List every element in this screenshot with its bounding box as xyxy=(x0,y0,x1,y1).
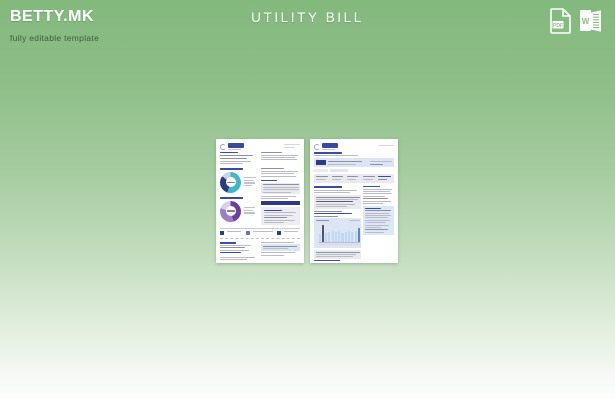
doc2-header-meta xyxy=(378,145,394,147)
utility-bill-page-2[interactable] xyxy=(310,139,398,263)
doc1-main-row xyxy=(220,168,300,225)
page-title: UTILITY BILL xyxy=(0,10,615,25)
doc2-right-column xyxy=(363,186,394,263)
donut-cost-breakdown xyxy=(220,201,241,222)
doc2-header xyxy=(314,143,394,150)
phone-icon xyxy=(246,231,250,235)
document-preview-group xyxy=(216,139,398,263)
doc1-header xyxy=(220,143,300,150)
word-file-icon[interactable]: W xyxy=(579,8,603,39)
doc1-header-meta xyxy=(284,144,300,149)
company-logo-wordmark xyxy=(228,143,244,150)
web-icon xyxy=(277,231,281,235)
doc1-charts-column xyxy=(220,168,259,225)
doc2-tabs xyxy=(314,169,394,172)
info-icon xyxy=(220,231,224,235)
total-amount-due-bar xyxy=(261,201,300,205)
utility-bill-page-1[interactable] xyxy=(216,139,304,263)
format-badges: PDF W xyxy=(550,8,603,39)
slip-left xyxy=(220,242,259,262)
meter-readings-table xyxy=(314,174,394,183)
monthly-usage-bar-chart xyxy=(314,218,361,248)
doc1-top-row xyxy=(220,152,300,165)
chart2-section-title xyxy=(220,197,243,199)
doc1-summary-column xyxy=(261,168,300,225)
donut-energy-mix xyxy=(220,172,241,193)
charges-section-title xyxy=(314,186,342,188)
doc2-main-row xyxy=(314,186,394,263)
brand-tagline: fully editable template xyxy=(10,33,99,43)
pdf-file-icon[interactable]: PDF xyxy=(550,8,572,39)
doc2-left-column xyxy=(314,186,361,263)
slip-right xyxy=(261,242,300,262)
usage-comparison-table xyxy=(314,250,361,259)
customer-address-block xyxy=(220,152,259,165)
bar-chart-bars xyxy=(316,223,360,242)
tear-off-line xyxy=(220,238,300,239)
chart1-section-title xyxy=(220,168,243,170)
company-logo-icon xyxy=(314,144,320,150)
important-info-box xyxy=(363,206,394,235)
donut-cost-legend xyxy=(244,207,259,215)
doc1-payment-slip xyxy=(220,242,300,262)
bill-meta-block xyxy=(261,152,300,165)
company-logo-icon xyxy=(220,144,226,150)
charges-detail-table xyxy=(314,195,361,209)
donut-energy-legend xyxy=(244,177,259,188)
svg-text:W: W xyxy=(582,17,590,26)
company-logo-wordmark xyxy=(322,143,338,150)
doc1-divider xyxy=(220,228,300,229)
charges-table xyxy=(261,183,300,194)
payment-notice-box xyxy=(261,207,300,225)
account-badge xyxy=(316,160,326,165)
doc1-icon-notes xyxy=(220,231,300,235)
account-summary-banner xyxy=(314,158,394,167)
svg-text:PDF: PDF xyxy=(553,23,563,29)
